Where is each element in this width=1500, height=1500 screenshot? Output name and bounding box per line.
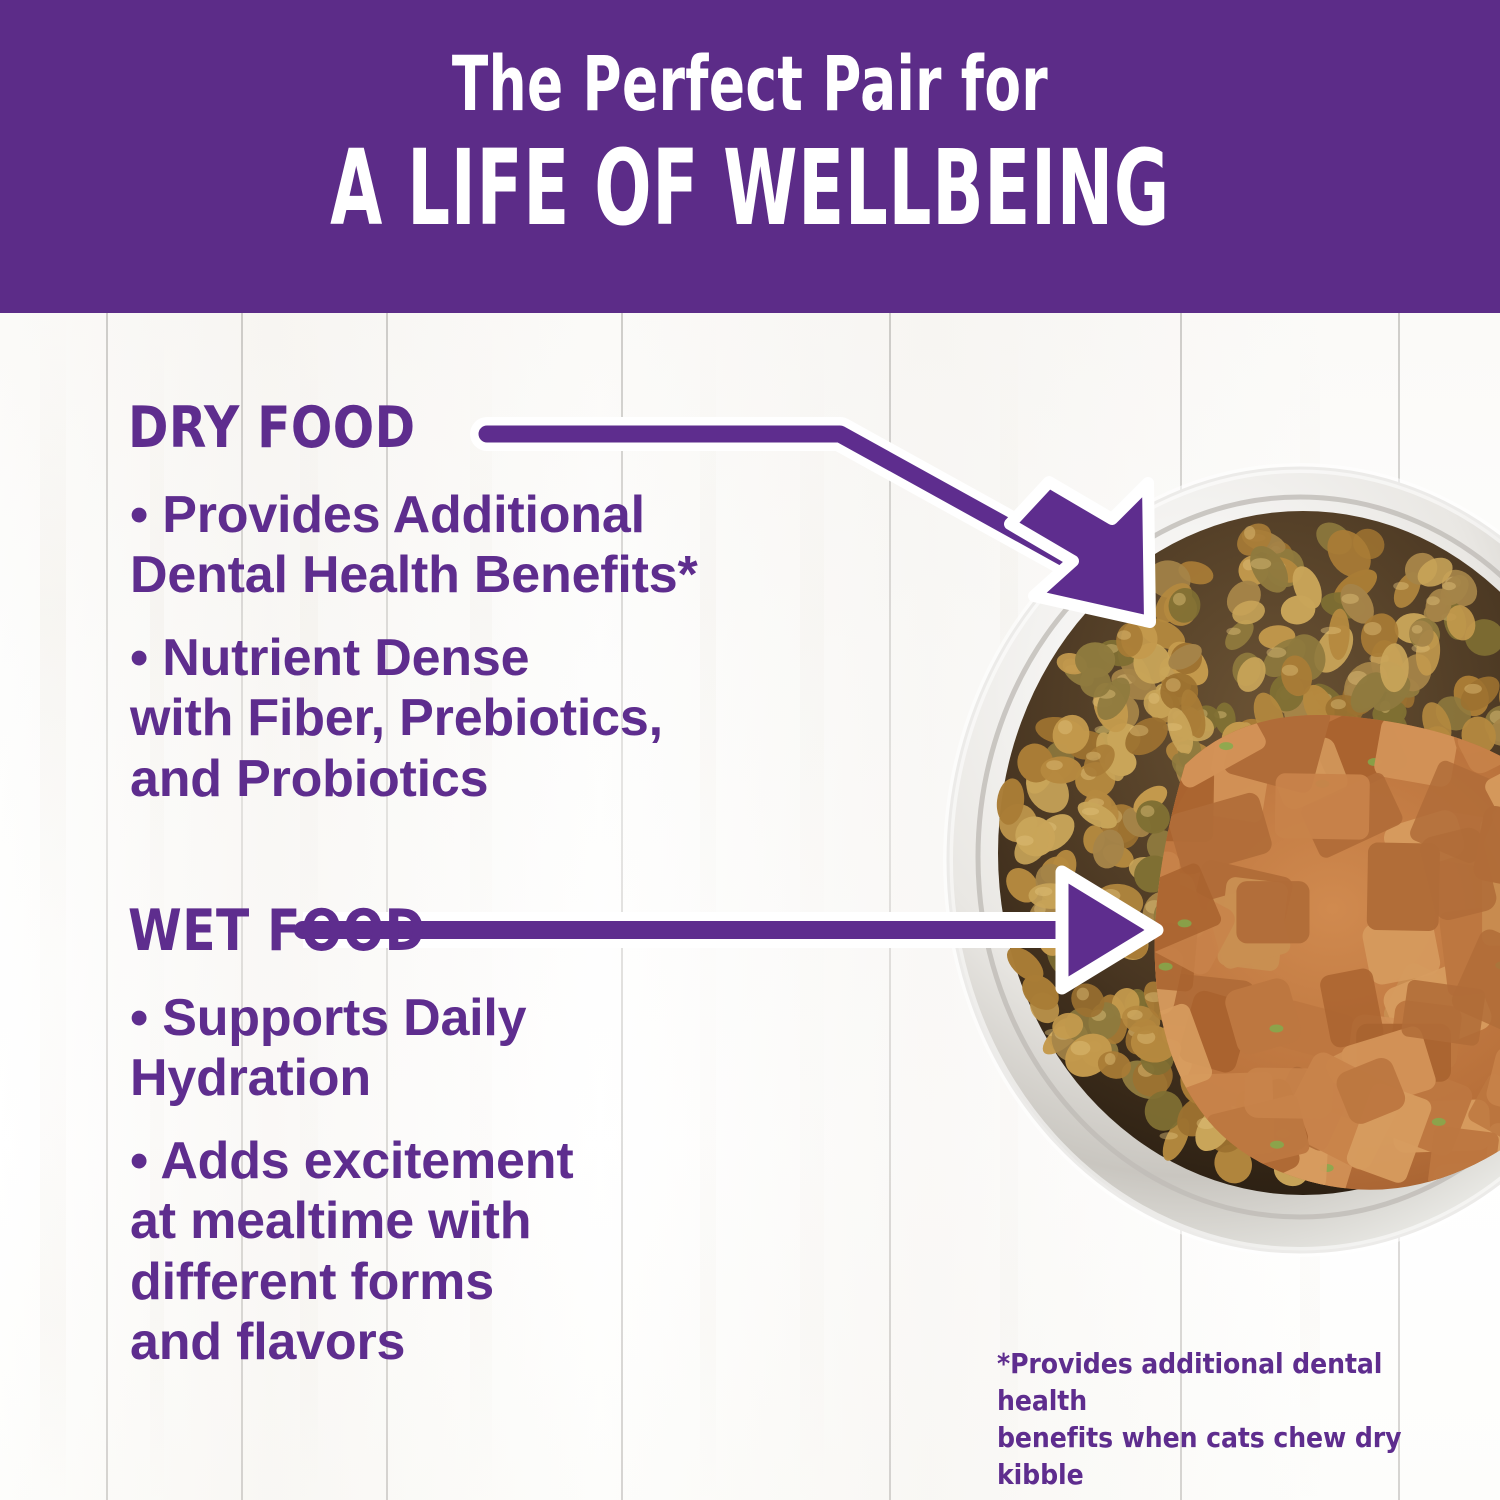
header-headline: A LIFE OF WELLBEING [210,136,1290,240]
bullet-line: • Supports Daily [130,988,790,1048]
bullet-line: Hydration [130,1048,790,1108]
wet-food-bullet-1: • Supports Daily Hydration [130,988,790,1109]
header-eyebrow: The Perfect Pair for [165,46,1335,122]
plank-seam [889,313,891,1500]
footnote: *Provides additional dental health benef… [997,1346,1427,1494]
dry-food-bullet-1: • Provides Additional Dental Health Bene… [130,485,830,606]
footnote-line: *Provides additional dental health [997,1346,1427,1420]
wet-food-bullet-2: • Adds excitement at mealtime with diffe… [130,1131,790,1372]
infographic-page: The Perfect Pair for A LIFE OF WELLBEING [0,0,1500,1500]
section-title-dry-food: DRY FOOD [128,400,416,457]
bullet-line: different forms [130,1252,790,1312]
dry-food-bullet-2: • Nutrient Dense with Fiber, Prebiotics,… [130,628,830,809]
bullet-line: and flavors [130,1312,790,1372]
plank-seam [106,313,108,1500]
pet-food-bowl-photo [905,445,1500,1315]
wood-grain [40,313,66,1500]
header-band: The Perfect Pair for A LIFE OF WELLBEING [0,0,1500,313]
bullet-line: • Provides Additional [130,485,830,545]
bullet-line: with Fiber, Prebiotics, [130,688,830,748]
bullet-line: • Adds excitement [130,1131,790,1191]
section-title-wet-food: WET FOOD [128,903,426,960]
bullet-line: Dental Health Benefits* [130,545,830,605]
bullet-line: at mealtime with [130,1191,790,1251]
bullet-line: and Probiotics [130,749,830,809]
bullet-line: • Nutrient Dense [130,628,830,688]
footnote-line: benefits when cats chew dry kibble [997,1420,1427,1494]
